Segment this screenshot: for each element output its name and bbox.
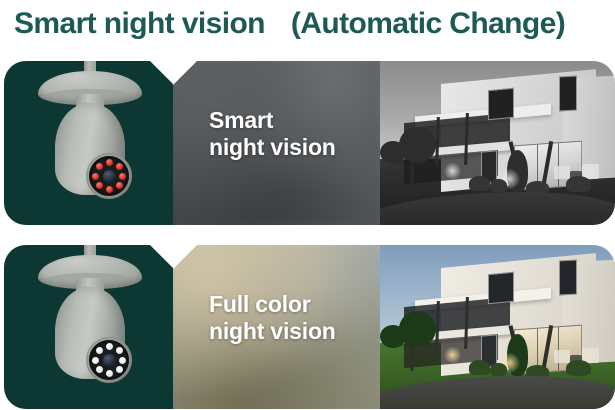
page-title-main: Smart night vision [14, 7, 265, 41]
feature-row-full-color-night-vision: Full color night vision [0, 245, 615, 409]
photo-window [488, 272, 514, 304]
caption-line-1: Smart [209, 107, 336, 134]
ir-led-icon [96, 163, 103, 170]
caption-line-2: night vision [209, 134, 336, 161]
white-led-icon [116, 347, 123, 354]
white-led-icon [106, 370, 113, 377]
photo-panel-row1 [380, 61, 615, 225]
camera-lens-icon [89, 340, 129, 380]
photo-shrub [566, 176, 592, 192]
house-photo-color [380, 245, 615, 409]
camera-panel-row1 [4, 61, 176, 225]
photo-terrace-chair [554, 166, 570, 179]
camera-glass-icon [103, 170, 116, 183]
page-title: Smart night vision (Automatic Change) [14, 2, 614, 46]
photo-shrub [566, 360, 592, 376]
label-panel-row1: Smart night vision [173, 61, 380, 225]
photo-tree [380, 325, 406, 348]
photo-shrub [469, 176, 490, 191]
photo-window [559, 75, 577, 111]
ir-led-icon [106, 186, 113, 193]
photo-shrub [490, 363, 506, 376]
white-led-icon [116, 366, 123, 373]
caption-row1: Smart night vision [209, 107, 336, 160]
feature-row-smart-night-vision: Smart night vision [0, 61, 615, 225]
ir-led-icon [116, 163, 123, 170]
white-led-icon [106, 343, 113, 350]
white-led-icon [96, 366, 103, 373]
white-led-icon [96, 347, 103, 354]
caption-line-1: Full color [209, 291, 336, 318]
caption-line-2: night vision [209, 318, 336, 345]
photo-terrace-chair [554, 350, 570, 363]
ir-led-icon [119, 173, 126, 180]
page-title-paren: (Automatic Change) [291, 7, 565, 41]
ir-led-icon [106, 159, 113, 166]
ir-led-icon [92, 173, 99, 180]
camera-glass-icon [103, 354, 116, 367]
photo-tree [380, 141, 406, 164]
photo-mullion [558, 327, 559, 370]
white-led-icon [119, 357, 126, 364]
camera-lens-icon [89, 156, 129, 196]
camera-panel-row2 [4, 245, 176, 409]
photo-mullion [558, 143, 559, 186]
photo-window [559, 259, 577, 295]
caption-row2: Full color night vision [209, 291, 336, 344]
photo-window [488, 88, 514, 120]
house-photo-grayscale [380, 61, 615, 225]
photo-panel-row2 [380, 245, 615, 409]
photo-shrub [469, 360, 490, 375]
ir-led-icon [116, 182, 123, 189]
ir-led-icon [96, 182, 103, 189]
photo-shrub [490, 179, 506, 192]
white-led-icon [92, 357, 99, 364]
label-panel-row2: Full color night vision [173, 245, 380, 409]
